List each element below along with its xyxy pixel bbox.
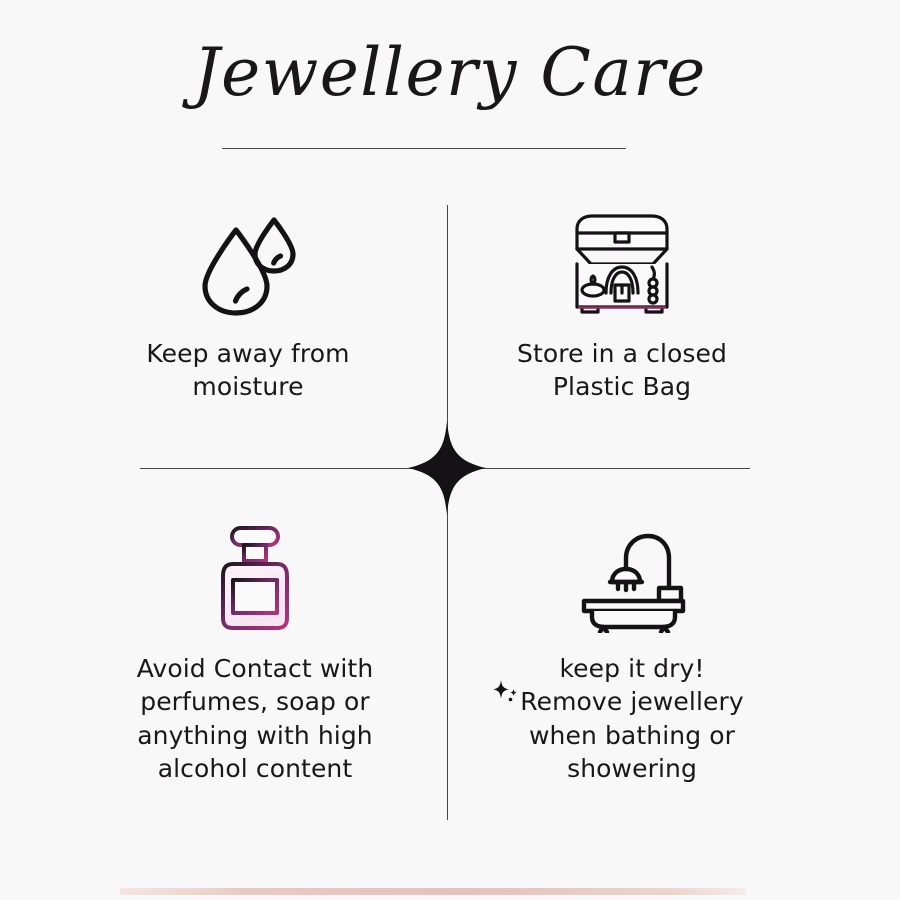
title-underline xyxy=(222,148,626,149)
caption-line: keep it dry! xyxy=(482,652,782,685)
title-block: Jewellery Care xyxy=(0,38,900,107)
four-point-star-icon xyxy=(408,421,486,515)
caption-line: Avoid Contact with xyxy=(105,652,405,685)
water-droplets-icon xyxy=(98,205,398,323)
caption-line: Plastic Bag xyxy=(472,370,772,403)
sparkle-cluster-icon xyxy=(490,678,524,712)
tip-bathing: keep it dry! Remove jewellery when bathi… xyxy=(482,520,782,785)
tip-chemicals: Avoid Contact with perfumes, soap or any… xyxy=(105,520,405,785)
caption-line: Keep away from xyxy=(98,337,398,370)
tip-chemicals-caption: Avoid Contact with perfumes, soap or any… xyxy=(105,652,405,785)
jewellery-box-icon xyxy=(472,205,772,323)
caption-line: anything with high xyxy=(105,719,405,752)
caption-line: Remove jewellery xyxy=(482,685,782,718)
bathtub-shower-icon xyxy=(482,520,782,638)
tip-moisture: Keep away from moisture xyxy=(98,205,398,404)
tip-storage-caption: Store in a closed Plastic Bag xyxy=(472,337,772,404)
caption-line: alcohol content xyxy=(105,752,405,785)
bottom-accent-bar xyxy=(120,888,746,895)
tip-moisture-caption: Keep away from moisture xyxy=(98,337,398,404)
perfume-bottle-icon xyxy=(105,520,405,638)
caption-line: Store in a closed xyxy=(472,337,772,370)
tip-bathing-caption: keep it dry! Remove jewellery when bathi… xyxy=(482,652,782,785)
caption-line: showering xyxy=(482,752,782,785)
jewellery-care-card: Jewellery Care Keep away from moisture xyxy=(0,0,900,900)
caption-line: perfumes, soap or xyxy=(105,685,405,718)
caption-line: moisture xyxy=(98,370,398,403)
caption-line: when bathing or xyxy=(482,719,782,752)
tip-storage: Store in a closed Plastic Bag xyxy=(472,205,772,404)
page-title: Jewellery Care xyxy=(0,38,900,107)
